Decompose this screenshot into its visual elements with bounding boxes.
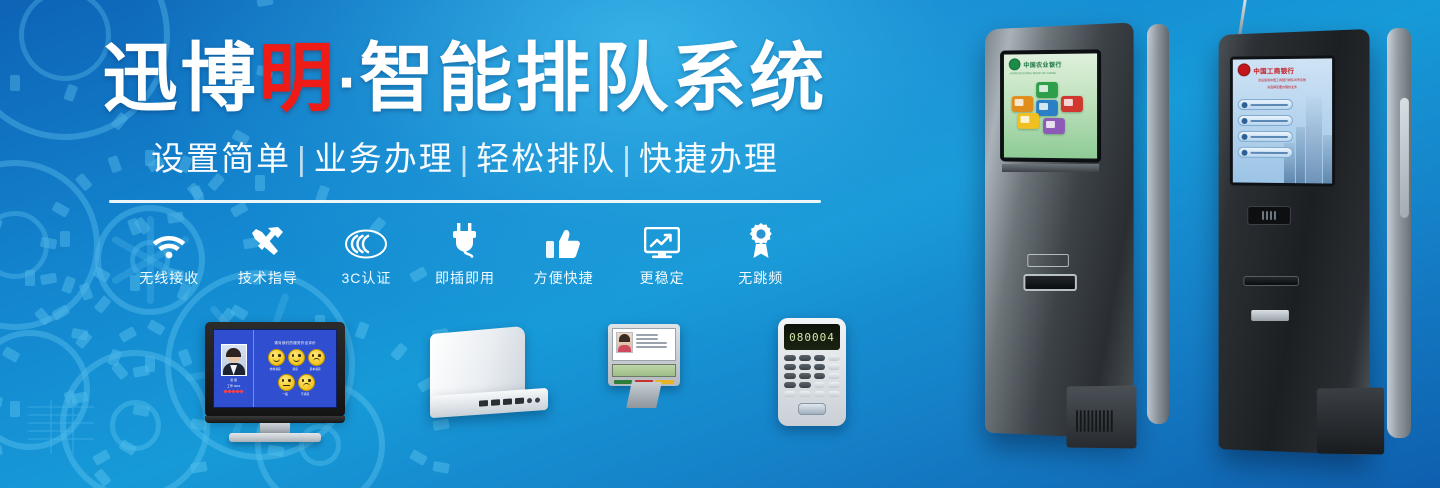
vent-grille bbox=[1076, 410, 1113, 432]
thumbs-up-icon bbox=[514, 219, 613, 259]
service-tile[interactable] bbox=[1036, 82, 1058, 98]
feature-label: 更稳定 bbox=[613, 268, 712, 288]
feature-item-no-frequency-hopping: 无跳频 bbox=[711, 219, 810, 288]
port bbox=[535, 397, 540, 402]
award-ribbon-icon bbox=[711, 219, 810, 259]
feature-item-wireless: 无线接收 bbox=[120, 219, 219, 288]
face-caption: 非常满意 bbox=[268, 367, 283, 371]
service-tile[interactable] bbox=[1043, 118, 1065, 134]
feature-item-more-stable: 更稳定 bbox=[613, 219, 712, 288]
promo-banner: 迅博明·智能排队系统 设置简单|业务办理|轻松排队|快捷办理 无线接收 bbox=[0, 0, 1440, 488]
staff-panel: 张 丽 工号 0001 bbox=[214, 330, 254, 407]
key[interactable] bbox=[828, 373, 840, 379]
queue-kiosk-abc: 中国农业银行 AGRICULTURAL BANK OF CHINA bbox=[965, 18, 1165, 480]
port bbox=[479, 400, 488, 407]
monitor-neck bbox=[260, 423, 290, 433]
product-evaluation-monitor: 张 丽 工号 0001 请对我们的服务作出评价 非常满意 满意 基本满意 一般 … bbox=[205, 322, 345, 442]
service-tile[interactable] bbox=[1061, 96, 1083, 112]
evaluator-lcd bbox=[612, 364, 676, 377]
service-tile[interactable] bbox=[1036, 100, 1058, 116]
feature-item-3c-certification: 3C认证 bbox=[317, 219, 416, 288]
service-menu bbox=[1238, 99, 1293, 158]
ticket-slot bbox=[1023, 274, 1076, 291]
kiosk-side-edge bbox=[1147, 23, 1169, 424]
evaluator-stand bbox=[626, 382, 662, 408]
queue-kiosk-icbc: 中国工商银行 欢迎使用中国工商银行排队叫号系统 请选择您要办理的业务 bbox=[1195, 10, 1405, 480]
card-photo bbox=[616, 332, 633, 353]
monitor-screen: 张 丽 工号 0001 请对我们的服务作出评价 非常满意 满意 基本满意 一般 … bbox=[213, 329, 337, 408]
service-tile[interactable] bbox=[1012, 96, 1034, 112]
kiosk-plinth bbox=[1317, 388, 1384, 455]
kiosk-screen-bezel: 中国工商银行 欢迎使用中国工商银行排队叫号系统 请选择您要办理的业务 bbox=[1230, 55, 1335, 186]
key[interactable] bbox=[828, 364, 840, 370]
port bbox=[491, 399, 500, 406]
ticket-slot-label bbox=[1027, 254, 1069, 267]
page-title: 迅博明·智能排队系统 bbox=[0, 34, 930, 127]
key[interactable] bbox=[784, 391, 796, 397]
service-tile-grid bbox=[1004, 80, 1097, 143]
feature-label: 3C认证 bbox=[317, 268, 416, 288]
bank-subtitle: AGRICULTURAL BANK OF CHINA bbox=[1004, 70, 1097, 77]
feature-label: 方便快捷 bbox=[514, 268, 613, 288]
wifi-icon bbox=[120, 219, 219, 259]
kiosk-screen[interactable]: 中国工商银行 欢迎使用中国工商银行排队叫号系统 请选择您要办理的业务 bbox=[1233, 58, 1332, 183]
port bbox=[503, 398, 512, 405]
rating-face-satisfied[interactable]: 满意 bbox=[288, 349, 303, 371]
kiosk-badge bbox=[1251, 310, 1289, 321]
terminal-display: 080004 bbox=[784, 324, 840, 350]
service-tile[interactable] bbox=[1018, 113, 1040, 129]
key[interactable] bbox=[799, 391, 811, 397]
rating-face-list: 非常满意 满意 基本满意 一般 不满意 bbox=[259, 349, 331, 396]
title-highlight: 明 bbox=[259, 34, 337, 122]
port bbox=[527, 397, 532, 402]
title-suffix: 智能排队系统 bbox=[359, 34, 827, 122]
kiosk-side-edge bbox=[1387, 27, 1411, 438]
keypad-body: 080004 bbox=[778, 318, 846, 426]
feature-label: 技术指导 bbox=[219, 268, 318, 288]
port bbox=[515, 398, 524, 405]
bank-logo-icon bbox=[1009, 58, 1021, 70]
rating-face-basic-satisfied[interactable]: 基本满意 bbox=[308, 349, 323, 371]
kiosk-screen-bezel: 中国农业银行 AGRICULTURAL BANK OF CHINA bbox=[1000, 49, 1101, 162]
key[interactable] bbox=[799, 355, 811, 361]
feature-item-technical-guidance: 技术指导 bbox=[219, 219, 318, 288]
evaluator-id-card bbox=[612, 328, 676, 361]
feature-item-plug-and-play: 即插即用 bbox=[416, 219, 515, 288]
ccc-certification-icon bbox=[317, 219, 416, 259]
rating-face-angry[interactable]: 不满意 bbox=[298, 374, 313, 396]
evaluator-head bbox=[608, 324, 680, 386]
title-dot: · bbox=[337, 53, 360, 113]
keypad-grid[interactable] bbox=[784, 355, 840, 397]
key[interactable] bbox=[784, 373, 796, 379]
face-caption: 不满意 bbox=[298, 392, 313, 396]
terminal-number: 080004 bbox=[789, 331, 835, 344]
title-prefix: 迅博 bbox=[103, 34, 259, 122]
evaluation-heading: 请对我们的服务作出评价 bbox=[274, 341, 316, 346]
product-calling-terminal: 080004 bbox=[778, 318, 846, 426]
face-caption: 一般 bbox=[278, 392, 293, 396]
feature-list: 无线接收 技术指导 bbox=[0, 219, 930, 288]
face-caption: 满意 bbox=[288, 367, 303, 371]
subtitle-item: 轻松排队 bbox=[476, 140, 616, 177]
key[interactable] bbox=[814, 391, 826, 397]
rating-stars bbox=[224, 390, 243, 393]
kiosk-plinth bbox=[1067, 386, 1137, 449]
monitor-bezel: 张 丽 工号 0001 请对我们的服务作出评价 非常满意 满意 基本满意 一般 … bbox=[205, 322, 345, 417]
key[interactable] bbox=[799, 373, 811, 379]
ticket-slot bbox=[1243, 276, 1299, 286]
rating-face-neutral[interactable]: 一般 bbox=[278, 374, 293, 396]
card-reader[interactable] bbox=[1247, 206, 1291, 225]
menu-item-corporate[interactable] bbox=[1238, 131, 1293, 142]
key[interactable] bbox=[828, 391, 840, 397]
headline-block: 迅博明·智能排队系统 设置简单|业务办理|轻松排队|快捷办理 无线接收 bbox=[0, 34, 930, 288]
kiosk-screen[interactable]: 中国农业银行 AGRICULTURAL BANK OF CHINA bbox=[1004, 53, 1097, 158]
key[interactable] bbox=[828, 382, 840, 388]
menu-item-wealth[interactable] bbox=[1238, 115, 1293, 126]
divider bbox=[109, 200, 821, 203]
staff-name: 张 丽 bbox=[230, 378, 237, 382]
key[interactable] bbox=[814, 373, 826, 379]
key[interactable] bbox=[799, 364, 811, 370]
subtitle-item: 快捷办理 bbox=[639, 140, 779, 177]
kiosk-screen-underbar bbox=[1002, 164, 1099, 172]
staff-id: 工号 0001 bbox=[227, 384, 241, 388]
bank-name: 中国农业银行 bbox=[1023, 59, 1062, 68]
key[interactable] bbox=[784, 382, 796, 388]
subtitle: 设置简单|业务办理|轻松排队|快捷办理 bbox=[0, 139, 930, 179]
subtitle-separator: | bbox=[454, 140, 477, 177]
feature-label: 无线接收 bbox=[120, 268, 219, 288]
feature-label: 无跳频 bbox=[711, 268, 810, 288]
product-host-controller bbox=[430, 330, 548, 414]
menu-item-personal[interactable] bbox=[1238, 99, 1293, 110]
subtitle-item: 业务办理 bbox=[314, 140, 454, 177]
bank-header: 中国农业银行 bbox=[1004, 53, 1097, 70]
kiosk-light-strip bbox=[1400, 98, 1409, 218]
card-text bbox=[636, 332, 672, 357]
key[interactable] bbox=[814, 355, 826, 361]
key[interactable] bbox=[814, 382, 826, 388]
subtitle-separator: | bbox=[616, 140, 639, 177]
key[interactable] bbox=[799, 382, 811, 388]
antenna-icon bbox=[1238, 0, 1248, 38]
product-showcase: 张 丽 工号 0001 请对我们的服务作出评价 非常满意 满意 基本满意 一般 … bbox=[0, 318, 930, 458]
tools-icon bbox=[219, 219, 318, 259]
button-very-satisfied[interactable] bbox=[614, 380, 632, 384]
bank-header: 中国工商银行 bbox=[1233, 58, 1332, 76]
evaluation-panel: 请对我们的服务作出评价 非常满意 满意 基本满意 一般 不满意 bbox=[254, 330, 336, 407]
feature-item-convenient: 方便快捷 bbox=[514, 219, 613, 288]
subtitle-item: 设置简单 bbox=[151, 140, 291, 177]
confirm-key[interactable] bbox=[798, 403, 826, 415]
subtitle-separator: | bbox=[291, 140, 314, 177]
menu-item-credit-card[interactable] bbox=[1238, 147, 1293, 158]
feature-label: 即插即用 bbox=[416, 268, 515, 288]
rating-face-very-satisfied[interactable]: 非常满意 bbox=[268, 349, 283, 371]
staff-photo bbox=[221, 344, 247, 376]
face-caption: 基本满意 bbox=[308, 367, 323, 371]
product-desktop-evaluator bbox=[608, 324, 680, 408]
key[interactable] bbox=[784, 355, 796, 361]
monitor-chin bbox=[205, 416, 345, 423]
monitor-chart-icon bbox=[613, 219, 712, 259]
key[interactable] bbox=[784, 364, 796, 370]
monitor-base bbox=[229, 433, 321, 442]
plug-icon bbox=[416, 219, 515, 259]
bank-logo-icon bbox=[1238, 63, 1251, 76]
key[interactable] bbox=[814, 364, 826, 370]
bank-name: 中国工商银行 bbox=[1253, 64, 1294, 74]
key[interactable] bbox=[828, 355, 840, 361]
